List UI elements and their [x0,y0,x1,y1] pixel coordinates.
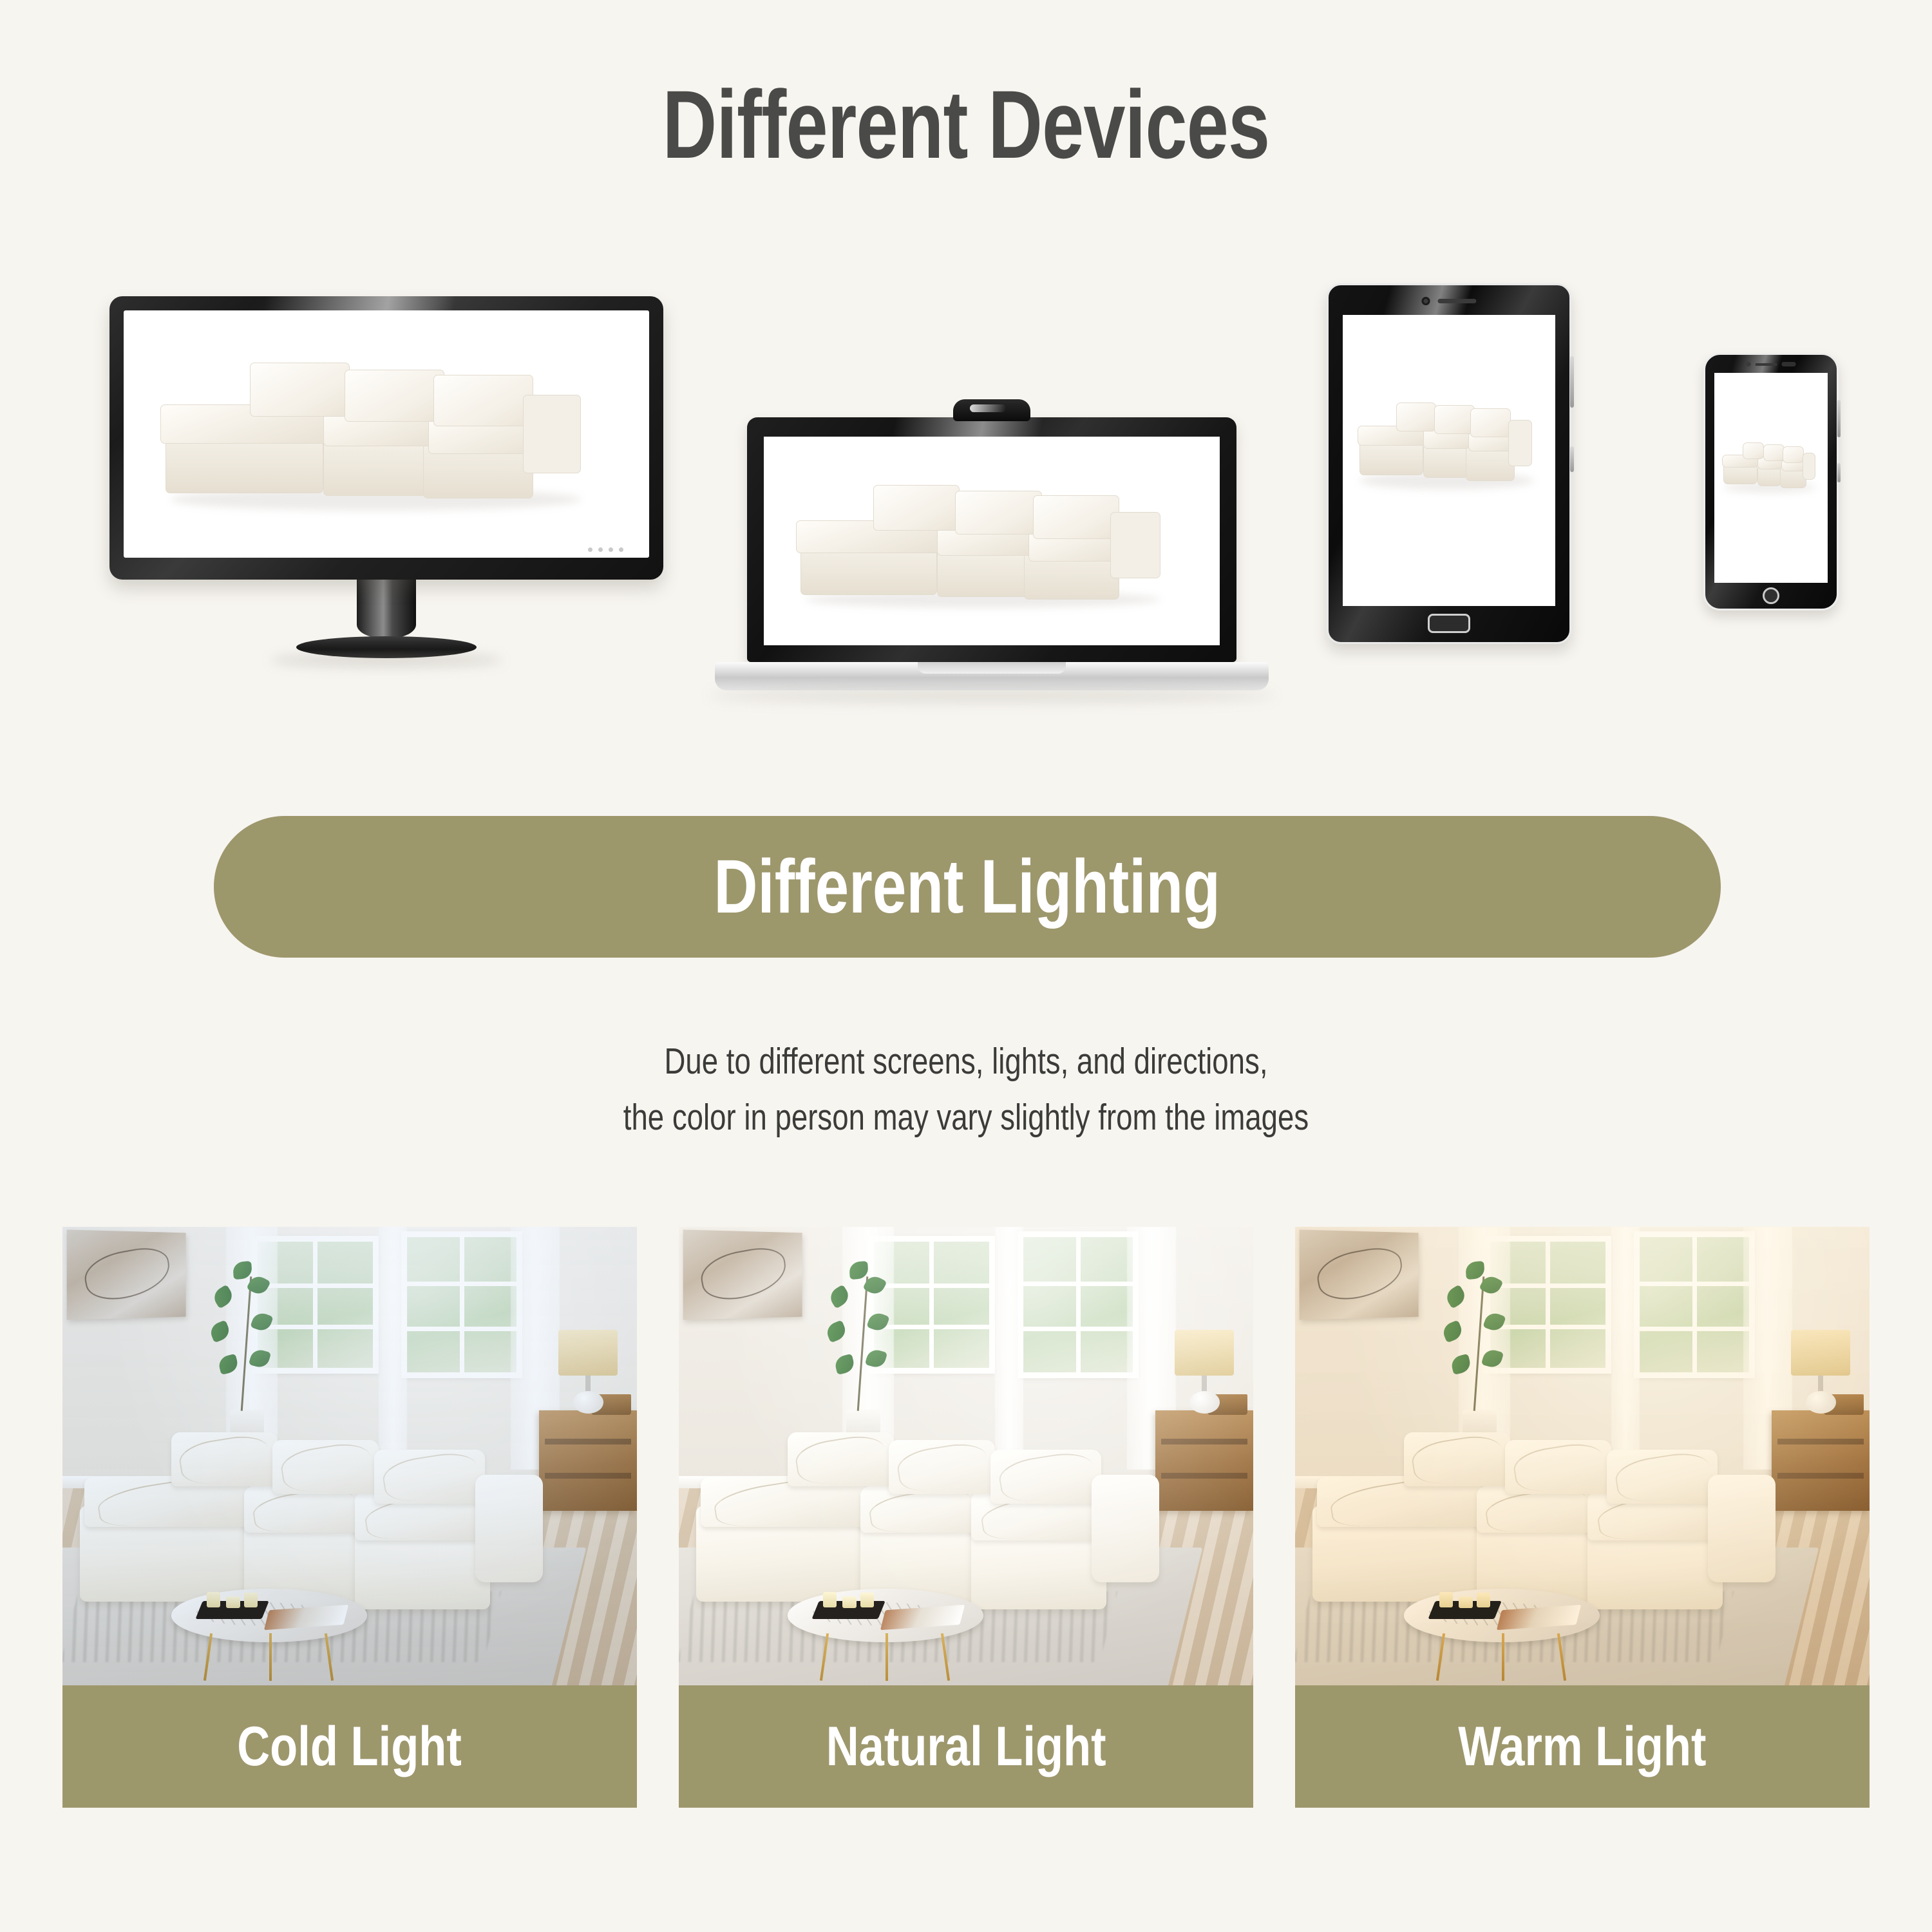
laptop-webcam-bump [953,399,1030,421]
caption-label-cold: Cold Light [238,1719,462,1774]
room-potted-plant [206,1250,287,1443]
laptop-trackpad-notch [918,662,1066,674]
monitor-stand-neck [357,580,416,639]
monitor-bezel [109,296,663,580]
sofa-product-image [764,437,1220,645]
room-photo-warm [1295,1227,1870,1685]
monitor-led-indicators [588,547,623,552]
monitor-screen [124,310,649,558]
room-photo-cold [62,1227,637,1685]
room-wall-art [1300,1230,1419,1320]
living-room-scene [1295,1227,1870,1685]
living-room-scene [62,1227,637,1685]
devices-showcase [0,283,1932,721]
room-wall-art [67,1230,186,1320]
room-window-right [1018,1231,1138,1378]
sofa-product-image [124,310,649,558]
tablet-home-button[interactable] [1428,614,1470,633]
device-desktop-monitor [109,296,663,667]
laptop-base-deck [715,662,1269,690]
laptop-lid [747,417,1236,662]
device-tablet [1327,283,1571,644]
caption-bar-cold: Cold Light [62,1685,637,1808]
caption-label-natural: Natural Light [826,1719,1106,1774]
monitor-shadow [270,653,502,667]
laptop-screen [764,437,1220,645]
phone-screen [1714,373,1828,583]
room-window-right [401,1231,522,1378]
lighting-panel-warm: Warm Light [1295,1227,1870,1808]
room-wall-art [683,1230,802,1320]
caption-bar-natural: Natural Light [679,1685,1253,1808]
phone-front-camera-icon [1747,362,1796,366]
room-table-lamp [556,1330,620,1417]
phone-home-button[interactable] [1763,587,1779,604]
room-potted-plant [822,1250,903,1443]
page-title: Different Devices [213,76,1719,173]
room-table-lamp [1173,1330,1236,1417]
disclaimer-line-1: Due to different screens, lights, and di… [193,1034,1739,1090]
different-lighting-label: Different Lighting [714,849,1221,925]
living-room-scene [679,1227,1253,1685]
device-smartphone [1703,353,1839,611]
sofa-product-image [1714,373,1828,583]
laptop-shadow [708,689,1275,702]
tablet-bezel [1327,283,1571,644]
tablet-screen [1343,315,1555,606]
lighting-panel-cold: Cold Light [62,1227,637,1808]
different-lighting-banner: Different Lighting [214,816,1721,958]
device-laptop [747,399,1236,702]
color-disclaimer: Due to different screens, lights, and di… [0,1034,1932,1145]
room-coffee-table [1404,1589,1599,1680]
room-window-right [1634,1231,1754,1378]
caption-bar-warm: Warm Light [1295,1685,1870,1808]
tablet-power-button[interactable] [1570,446,1574,472]
disclaimer-line-2: the color in person may vary slightly fr… [193,1090,1739,1146]
tablet-front-camera-icon [1422,297,1477,305]
lighting-comparison-panels: Cold Light [62,1227,1870,1808]
phone-power-button[interactable] [1837,463,1841,482]
room-photo-natural [679,1227,1253,1685]
sofa-product-image [1343,315,1555,606]
phone-bezel [1703,353,1839,611]
room-coffee-table [788,1589,983,1680]
lighting-panel-natural: Natural Light [679,1227,1253,1808]
phone-volume-button[interactable] [1837,400,1841,437]
room-table-lamp [1789,1330,1852,1417]
caption-label-warm: Warm Light [1458,1719,1706,1774]
tablet-volume-button[interactable] [1570,356,1574,408]
room-potted-plant [1439,1250,1519,1443]
room-coffee-table [171,1589,366,1680]
